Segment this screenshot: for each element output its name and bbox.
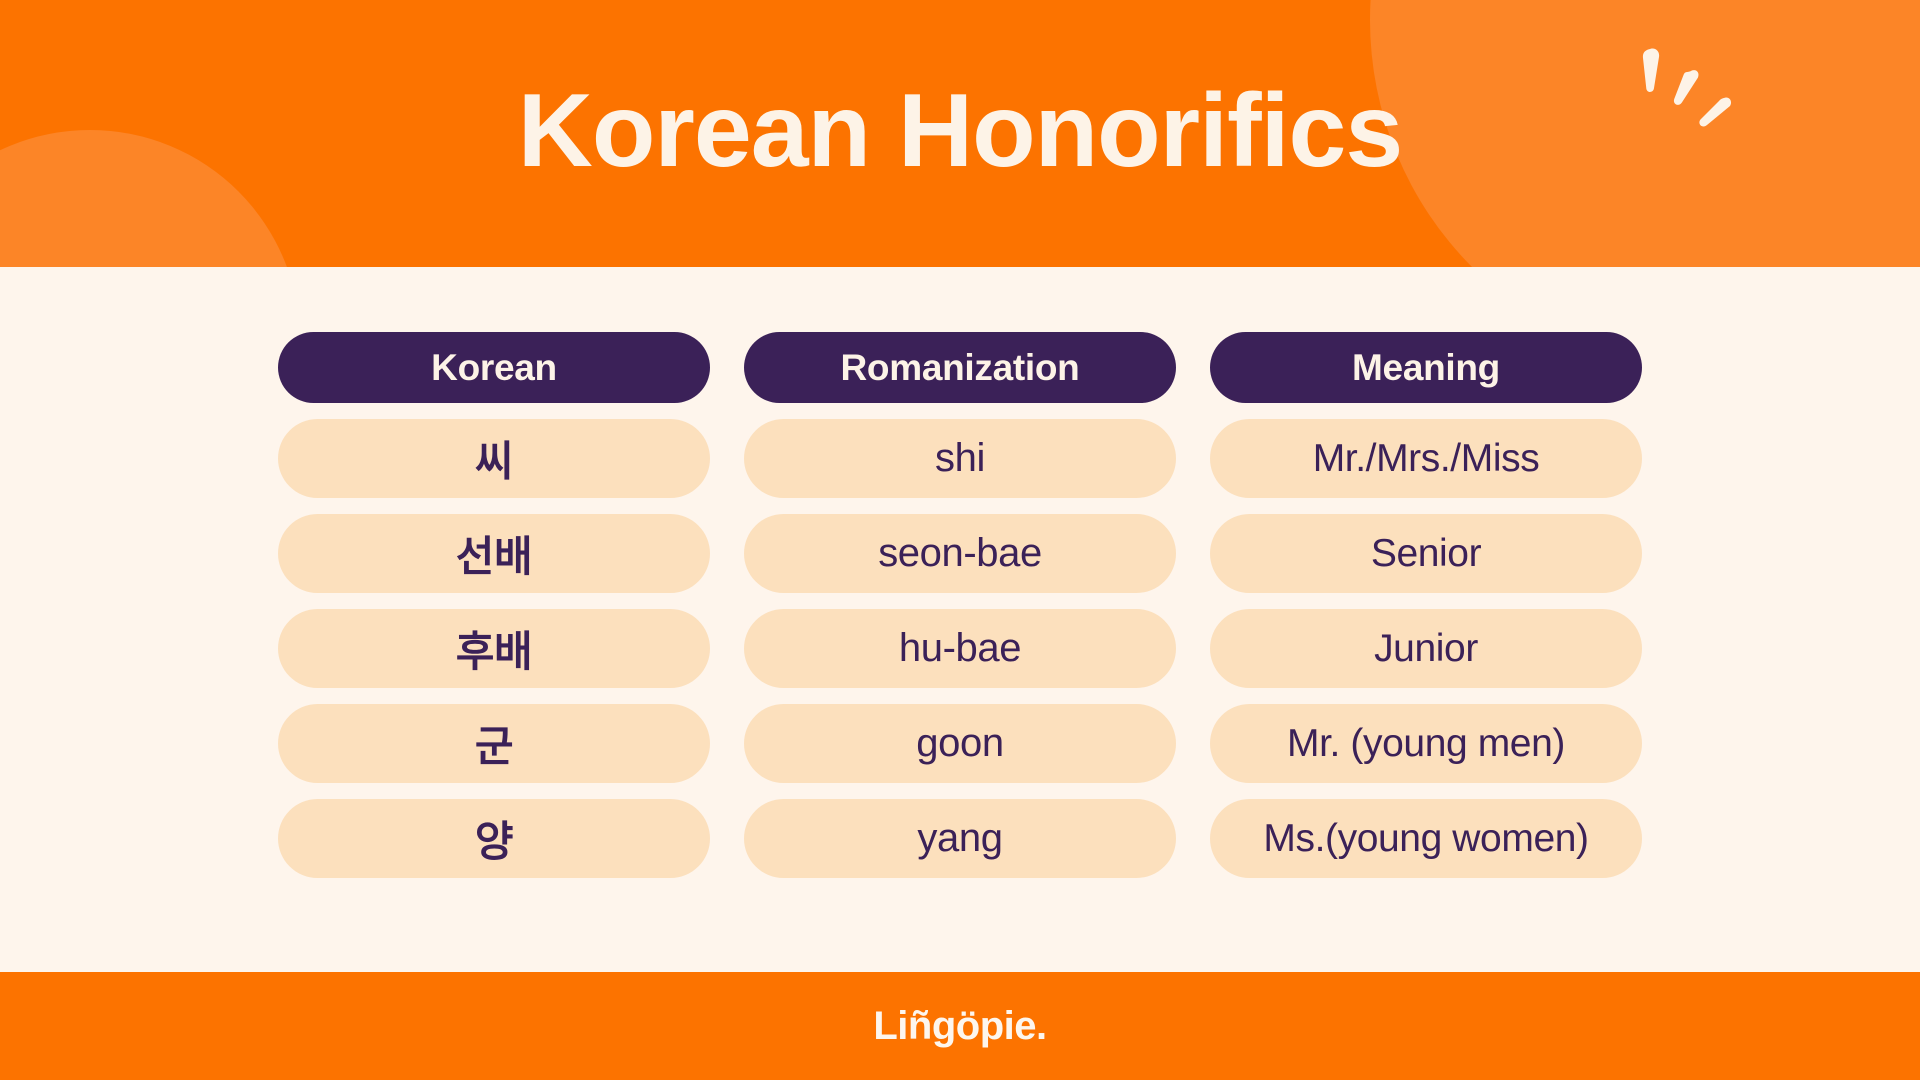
- cell-meaning: Mr./Mrs./Miss: [1210, 419, 1642, 498]
- content-area: Korean Romanization Meaning 씨 shi Mr./Mr…: [0, 267, 1920, 972]
- cell-meaning: Junior: [1210, 609, 1642, 688]
- page-title: Korean Honorifics: [0, 0, 1920, 267]
- cell-romanization: shi: [744, 419, 1176, 498]
- cell-meaning: Mr. (young men): [1210, 704, 1642, 783]
- cell-romanization: hu-bae: [744, 609, 1176, 688]
- cell-korean: 후배: [278, 609, 710, 688]
- column-header-meaning: Meaning: [1210, 332, 1642, 403]
- honorifics-table: Korean Romanization Meaning 씨 shi Mr./Mr…: [278, 332, 1642, 878]
- cell-korean: 양: [278, 799, 710, 878]
- column-header-romanization: Romanization: [744, 332, 1176, 403]
- column-header-korean: Korean: [278, 332, 710, 403]
- table-header-row: Korean Romanization Meaning: [278, 332, 1642, 403]
- page-footer: Liñgöpie.: [0, 972, 1920, 1080]
- table-row: 군 goon Mr. (young men): [278, 704, 1642, 783]
- table-row: 양 yang Ms.(young women): [278, 799, 1642, 878]
- brand-logo: Liñgöpie.: [873, 1004, 1046, 1049]
- table-row: 후배 hu-bae Junior: [278, 609, 1642, 688]
- cell-romanization: seon-bae: [744, 514, 1176, 593]
- cell-romanization: goon: [744, 704, 1176, 783]
- cell-korean: 씨: [278, 419, 710, 498]
- cell-korean: 군: [278, 704, 710, 783]
- cell-meaning: Senior: [1210, 514, 1642, 593]
- table-row: 씨 shi Mr./Mrs./Miss: [278, 419, 1642, 498]
- cell-meaning: Ms.(young women): [1210, 799, 1642, 878]
- page-header: Korean Honorifics: [0, 0, 1920, 267]
- cell-korean: 선배: [278, 514, 710, 593]
- table-row: 선배 seon-bae Senior: [278, 514, 1642, 593]
- cell-romanization: yang: [744, 799, 1176, 878]
